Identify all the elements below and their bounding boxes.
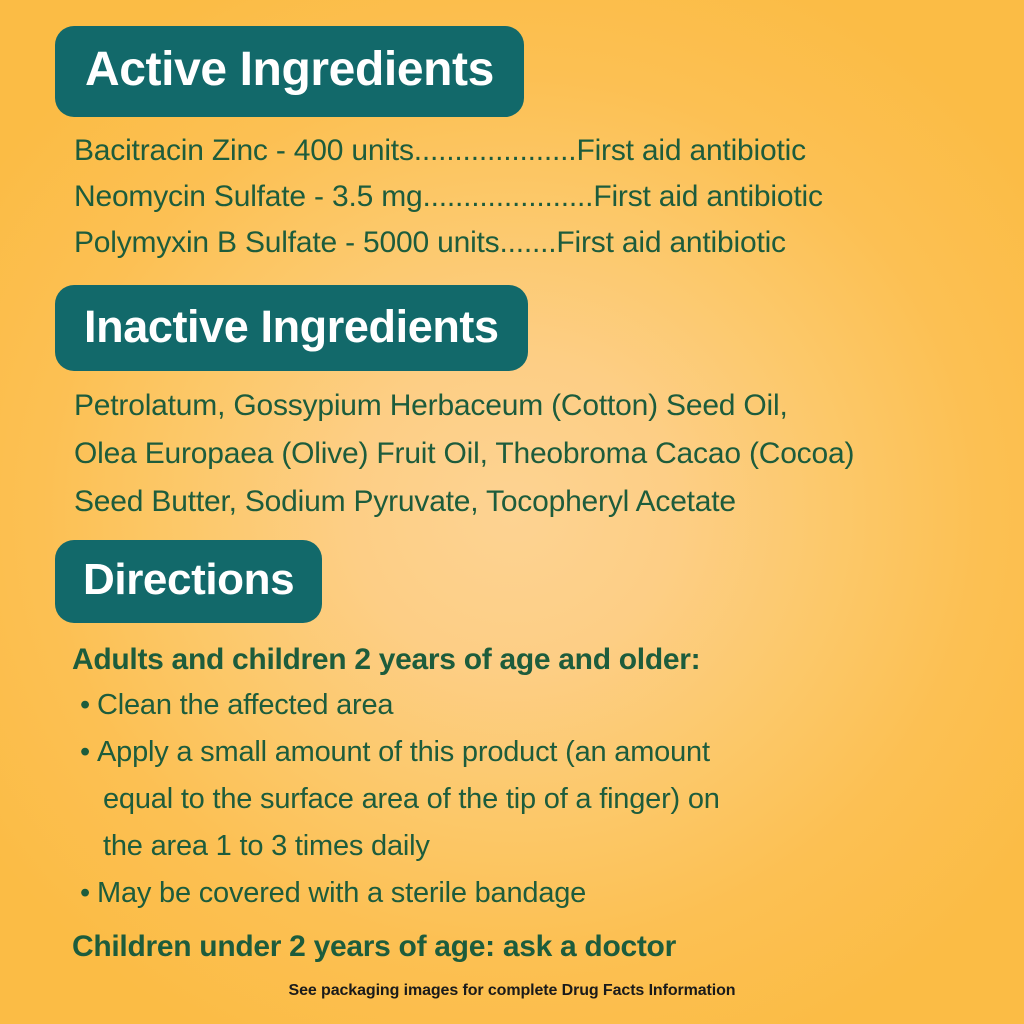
directions-content: Adults and children 2 years of age and o…: [72, 638, 1002, 971]
directions-bullet-continuation: equal to the surface area of the tip of …: [72, 776, 1002, 823]
directions-bullet-item: •May be covered with a sterile bandage: [72, 870, 1002, 917]
inactive-ingredients-list: Petrolatum, Gossypium Herbaceum (Cotton)…: [74, 382, 1004, 526]
active-ingredients-list: Bacitracin Zinc - 400 units.............…: [74, 128, 974, 266]
directions-bullet-text: Clean the affected area: [97, 689, 393, 721]
directions-bullet-text: Apply a small amount of this product (an…: [97, 736, 710, 768]
inactive-ingredient-line: Petrolatum, Gossypium Herbaceum (Cotton)…: [74, 382, 1004, 430]
directions-bullet-item: •Apply a small amount of this product (a…: [72, 729, 1002, 776]
packaging-footer-note: See packaging images for complete Drug F…: [0, 982, 1024, 1000]
section-heading-inactive-ingredients: Inactive Ingredients: [55, 285, 528, 371]
drug-facts-panel: Active Ingredients Bacitracin Zinc - 400…: [0, 0, 1024, 1024]
bullet-marker: •: [80, 682, 97, 729]
bullet-marker: •: [80, 729, 97, 776]
section-heading-active-ingredients: Active Ingredients: [55, 26, 524, 117]
active-ingredient-row: Neomycin Sulfate - 3.5 mg...............…: [74, 174, 974, 220]
active-ingredient-row: Bacitracin Zinc - 400 units.............…: [74, 128, 974, 174]
inactive-ingredient-line: Olea Europaea (Olive) Fruit Oil, Theobro…: [74, 430, 1004, 478]
directions-bullet-item: •Clean the affected area: [72, 682, 1002, 729]
directions-bullet-text: May be covered with a sterile bandage: [97, 877, 586, 909]
inactive-ingredient-line: Seed Butter, Sodium Pyruvate, Tocopheryl…: [74, 478, 1004, 526]
section-heading-directions: Directions: [55, 540, 322, 623]
active-ingredient-row: Polymyxin B Sulfate - 5000 units.......F…: [74, 220, 974, 266]
bullet-marker: •: [80, 870, 97, 917]
directions-children-note: Children under 2 years of age: ask a doc…: [72, 917, 1002, 971]
directions-bullet-continuation: the area 1 to 3 times daily: [72, 823, 1002, 870]
directions-adults-heading: Adults and children 2 years of age and o…: [72, 638, 1002, 682]
